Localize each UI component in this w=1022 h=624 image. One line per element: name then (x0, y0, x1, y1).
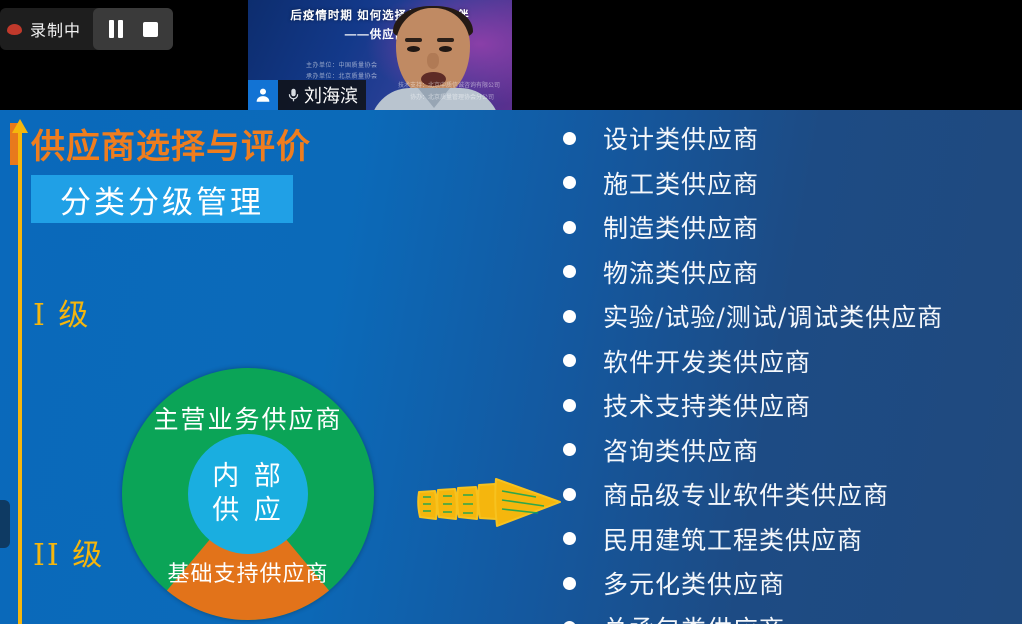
presenter-name-label: 刘海滨 (303, 82, 366, 108)
video-background-line1: 主办单位：中国质量协会 (306, 60, 378, 69)
bullet-dot-icon (563, 577, 576, 590)
list-item: 软件开发类供应商 (563, 339, 1013, 384)
list-item: 制造类供应商 (563, 205, 1013, 250)
list-item-label: 设计类供应商 (603, 120, 759, 156)
list-item: 实验/试验/测试/调试类供应商 (563, 294, 1013, 339)
grade-label-level-2: II 级 (33, 530, 104, 574)
list-item: 技术支持类供应商 (563, 383, 1013, 428)
list-item-label: 民用建筑工程类供应商 (603, 521, 863, 557)
video-background-line3: 技术支持：北京中质信诚咨询有限公司 (398, 80, 500, 89)
stop-icon (143, 22, 158, 37)
list-item: 设计类供应商 (563, 116, 1013, 161)
recording-controls (93, 8, 173, 50)
slide-title-row: 供应商选择与评价 (10, 119, 311, 168)
recording-status-label: 录制中 (30, 17, 93, 41)
list-item-label: 软件开发类供应商 (603, 343, 811, 379)
diagram-inner-label-line2: 供 应 (212, 494, 284, 528)
bullet-dot-icon (563, 221, 576, 234)
recording-dot-icon (6, 20, 24, 38)
presenter-video-tile[interactable]: 后疫情时期 如何选择供应链伙伴 ——供应商质量管理 主办单位：中国质量协会 承办… (248, 0, 512, 110)
diagram-inner-circle: 内 部 供 应 (188, 434, 308, 554)
supplier-category-list: 设计类供应商施工类供应商制造类供应商物流类供应商实验/试验/测试/调试类供应商软… (563, 116, 1013, 624)
microphone-icon[interactable] (283, 86, 303, 104)
diagram-outer-label: 主营业务供应商 (122, 400, 374, 436)
slide-subtitle: 分类分级管理 (60, 177, 264, 222)
video-background-line4: 协办：北京质量管理协会分公司 (410, 92, 494, 101)
presenter-eye-right (439, 46, 452, 52)
bullet-dot-icon (563, 310, 576, 323)
video-background-line2: 承办单位：北京质量协会 (306, 71, 378, 80)
diagram-inner-label-line1: 内 部 (212, 460, 284, 494)
slide-subtitle-box: 分类分级管理 (31, 175, 293, 223)
pointer-arrow-icon (414, 473, 566, 535)
avatar-icon (248, 80, 278, 110)
presentation-slide: 供应商选择与评价 分类分级管理 I 级 II 级 主营业务供应商 基础支持供应商… (0, 110, 1022, 624)
list-item-label: 多元化类供应商 (603, 565, 785, 601)
list-item-label: 总承包类供应商 (603, 610, 785, 624)
presenter-eye-left (407, 46, 420, 52)
list-item-label: 咨询类供应商 (603, 432, 759, 468)
list-item: 多元化类供应商 (563, 561, 1013, 606)
screen-root: 录制中 后疫情时期 如何选择供应链伙伴 ——供应商质量管理 (0, 0, 1022, 624)
list-item-label: 施工类供应商 (603, 165, 759, 201)
list-item: 民用建筑工程类供应商 (563, 517, 1013, 562)
list-item-label: 商品级专业软件类供应商 (603, 476, 889, 512)
list-item: 物流类供应商 (563, 250, 1013, 295)
list-item: 总承包类供应商 (563, 606, 1013, 624)
top-toolbar: 录制中 后疫情时期 如何选择供应链伙伴 ——供应商质量管理 (0, 0, 1022, 110)
grade-label-level-1: I 级 (33, 290, 90, 334)
list-item-label: 物流类供应商 (603, 254, 759, 290)
presenter-brow-left (405, 38, 422, 42)
bullet-dot-icon (563, 132, 576, 145)
list-item: 商品级专业软件类供应商 (563, 472, 1013, 517)
collapsed-panel-handle[interactable] (0, 500, 10, 548)
stop-recording-button[interactable] (133, 12, 167, 46)
list-item-label: 实验/试验/测试/调试类供应商 (603, 298, 943, 334)
list-item-label: 技术支持类供应商 (603, 387, 811, 423)
bullet-dot-icon (563, 354, 576, 367)
slide-title: 供应商选择与评价 (31, 119, 311, 168)
grade-axis-arrow-icon (9, 119, 31, 624)
presenter-nametag[interactable]: 刘海滨 (248, 80, 366, 110)
arrow-shaft (18, 129, 22, 624)
bullet-dot-icon (563, 176, 576, 189)
list-item: 咨询类供应商 (563, 428, 1013, 473)
pause-recording-button[interactable] (99, 12, 133, 46)
bullet-dot-icon (563, 532, 576, 545)
pause-icon (109, 20, 123, 38)
supplier-circle-diagram: 主营业务供应商 基础支持供应商 内 部 供 应 (122, 368, 374, 620)
list-item-label: 制造类供应商 (603, 209, 759, 245)
bullet-dot-icon (563, 488, 576, 501)
recording-indicator: 录制中 (0, 8, 173, 50)
bullet-dot-icon (563, 265, 576, 278)
presenter-brow-right (437, 38, 454, 42)
bullet-dot-icon (563, 443, 576, 456)
list-item: 施工类供应商 (563, 161, 1013, 206)
diagram-bottom-label: 基础支持供应商 (122, 556, 374, 588)
presenter-nose (427, 53, 439, 69)
bullet-dot-icon (563, 399, 576, 412)
